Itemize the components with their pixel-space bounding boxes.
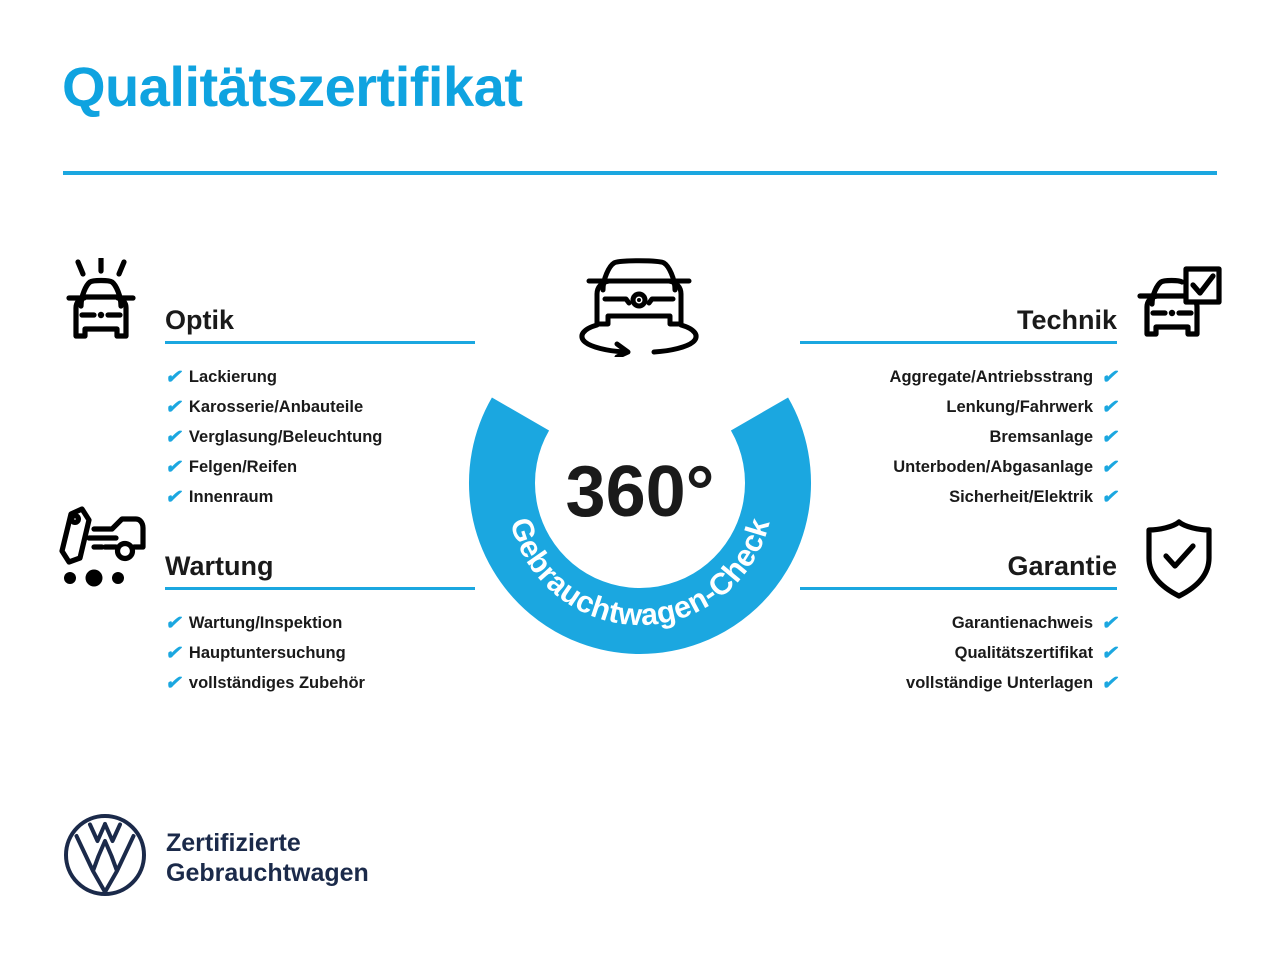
list-item-label: Sicherheit/Elektrik [949,482,1093,512]
list-item: ✔Wartung/Inspektion [165,608,475,638]
list-item: Bremsanlage✔ [800,422,1117,452]
list-item: Aggregate/Antriebsstrang✔ [800,362,1117,392]
check-icon: ✔ [1101,674,1117,693]
list-item-label: Hauptuntersuchung [189,638,346,668]
check-icon: ✔ [165,428,181,447]
list-item: Unterboden/Abgasanlage✔ [800,452,1117,482]
car-rotation-360-icon [569,252,709,357]
check-icon: ✔ [1101,398,1117,417]
section-garantie-list: Garantienachweis✔ Qualitätszertifikat✔ v… [800,608,1117,698]
check-icon: ✔ [1101,644,1117,663]
section-optik-list: ✔Lackierung ✔Karosserie/Anbauteile ✔Verg… [165,362,475,512]
list-item: Lenkung/Fahrwerk✔ [800,392,1117,422]
check-icon: ✔ [165,398,181,417]
header-divider [63,171,1217,175]
list-item-label: Karosserie/Anbauteile [189,392,363,422]
list-item: Qualitätszertifikat✔ [800,638,1117,668]
list-item-label: Unterboden/Abgasanlage [893,452,1093,482]
list-item: ✔Verglasung/Beleuchtung [165,422,475,452]
section-garantie-divider [800,587,1117,590]
car-front-shine-icon [62,258,140,355]
list-item: vollständige Unterlagen✔ [800,668,1117,698]
shield-check-icon [1143,518,1215,605]
check-icon: ✔ [1101,428,1117,447]
list-item-label: Verglasung/Beleuchtung [189,422,382,452]
list-item-label: Aggregate/Antriebsstrang [890,362,1094,392]
volkswagen-logo-icon [62,812,148,903]
section-wartung-divider [165,587,475,590]
list-item: ✔Karosserie/Anbauteile [165,392,475,422]
badge-360-check: 360° Gebrauchtwagen-Check [466,318,814,666]
section-wartung: Wartung ✔Wartung/Inspektion ✔Hauptunters… [165,548,475,698]
section-optik-header: Optik [165,302,475,348]
list-item: ✔Hauptuntersuchung [165,638,475,668]
section-technik: Technik Aggregate/Antriebsstrang✔ Lenkun… [800,302,1117,512]
list-item-label: Lenkung/Fahrwerk [946,392,1093,422]
section-wartung-header: Wartung [165,548,475,594]
section-optik-divider [165,341,475,344]
list-item-label: Innenraum [189,482,273,512]
car-front-checkbox-icon [1136,266,1222,351]
list-item: ✔Felgen/Reifen [165,452,475,482]
check-icon: ✔ [165,644,181,663]
section-technik-title: Technik [800,302,1117,338]
list-item-label: Felgen/Reifen [189,452,297,482]
list-item: Sicherheit/Elektrik✔ [800,482,1117,512]
list-item: Garantienachweis✔ [800,608,1117,638]
badge-center-label: 360° [566,452,715,532]
list-item-label: Bremsanlage [989,422,1093,452]
section-technik-divider [800,341,1117,344]
list-item-label: vollständige Unterlagen [906,668,1093,698]
check-icon: ✔ [1101,368,1117,387]
section-technik-header: Technik [800,302,1117,348]
check-icon: ✔ [1101,458,1117,477]
car-service-tool-icon [58,506,146,596]
section-garantie-header: Garantie [800,548,1117,594]
list-item-label: Wartung/Inspektion [189,608,342,638]
list-item: ✔Lackierung [165,362,475,392]
check-icon: ✔ [1101,614,1117,633]
list-item-label: vollständiges Zubehör [189,668,365,698]
section-optik: Optik ✔Lackierung ✔Karosserie/Anbauteile… [165,302,475,512]
footer-brand-line1: Zertifizierte [166,828,369,858]
check-icon: ✔ [165,458,181,477]
list-item-label: Qualitätszertifikat [955,638,1093,668]
section-garantie: Garantie Garantienachweis✔ Qualitätszert… [800,548,1117,698]
section-technik-list: Aggregate/Antriebsstrang✔ Lenkung/Fahrwe… [800,362,1117,512]
list-item-label: Garantienachweis [952,608,1093,638]
section-wartung-list: ✔Wartung/Inspektion ✔Hauptuntersuchung ✔… [165,608,475,698]
footer-brand: Zertifizierte Gebrauchtwagen [62,812,369,903]
section-garantie-title: Garantie [800,548,1117,584]
section-optik-title: Optik [165,302,475,338]
check-icon: ✔ [165,488,181,507]
list-item: ✔vollständiges Zubehör [165,668,475,698]
footer-brand-text: Zertifizierte Gebrauchtwagen [166,828,369,888]
footer-brand-line2: Gebrauchtwagen [166,858,369,888]
page-title: Qualitätszertifikat [62,58,522,117]
check-icon: ✔ [165,674,181,693]
list-item-label: Lackierung [189,362,277,392]
check-icon: ✔ [1101,488,1117,507]
check-icon: ✔ [165,368,181,387]
list-item: ✔Innenraum [165,482,475,512]
check-icon: ✔ [165,614,181,633]
section-wartung-title: Wartung [165,548,475,584]
